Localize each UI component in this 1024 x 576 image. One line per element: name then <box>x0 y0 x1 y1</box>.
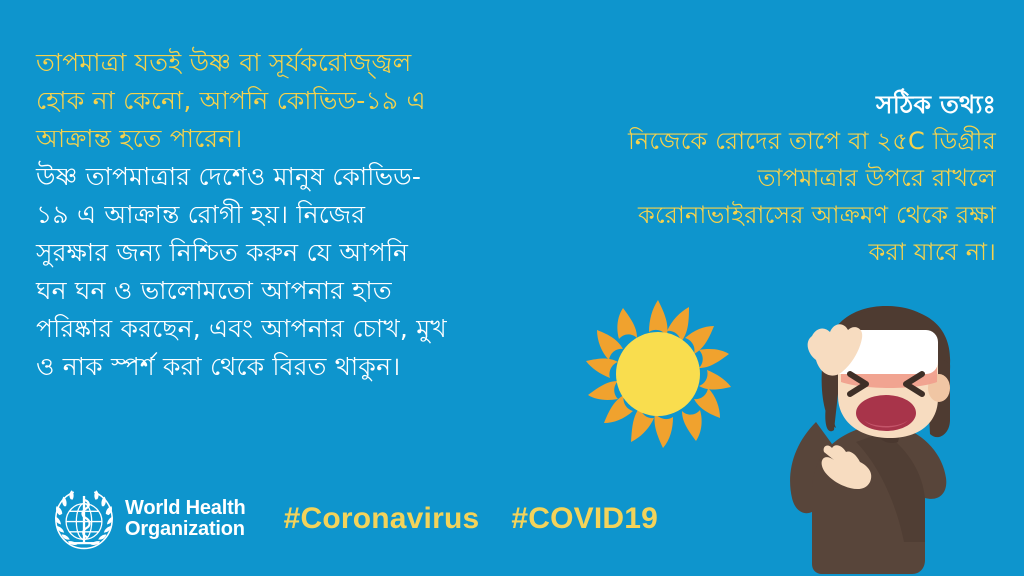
hashtag-covid19[interactable]: #COVID19 <box>511 502 658 536</box>
who-wordmark: World Health Organization <box>125 498 246 540</box>
fact-line-4: করা যাবে না। <box>526 234 996 271</box>
who-logo-lockup: World Health Organization <box>52 487 246 551</box>
fact-line-1: নিজেকে রোদের তাপে বা ২৫C ডিগ্রীর <box>526 123 996 160</box>
myth-text-block: তাপমাত্রা যতই উষ্ণ বা সূর্যকরোজ্জ্বল হোক… <box>36 44 536 386</box>
fact-line-2: তাপমাত্রার উপরে রাখলে <box>526 160 996 197</box>
fact-heading: সঠিক তথ্যঃ <box>526 86 996 123</box>
myth-line-5: ১৯ এ আক্রান্ত রোগী হয়। নিজের <box>36 196 536 234</box>
footer-bar: World Health Organization #Coronavirus #… <box>52 484 658 554</box>
who-emblem-icon <box>52 487 116 551</box>
who-name-line-2: Organization <box>125 519 246 540</box>
myth-line-2: হোক না কেনো, আপনি কোভিড-১৯ এ <box>36 82 536 120</box>
hashtag-coronavirus[interactable]: #Coronavirus <box>284 502 480 536</box>
myth-line-9: ও নাক স্পর্শ করা থেকে বিরত থাকুন। <box>36 348 536 386</box>
sick-person-icon <box>786 302 996 576</box>
myth-line-3: আক্রান্ত হতে পারেন। <box>36 120 536 158</box>
sun-core <box>616 332 700 416</box>
sun-icon <box>583 298 733 450</box>
myth-line-7: ঘন ঘন ও ভালোমতো আপনার হাত <box>36 272 536 310</box>
person-mouth <box>856 395 916 431</box>
fact-text-block: সঠিক তথ্যঃ নিজেকে রোদের তাপে বা ২৫C ডিগ্… <box>526 86 996 271</box>
myth-line-1: তাপমাত্রা যতই উষ্ণ বা সূর্যকরোজ্জ্বল <box>36 44 536 82</box>
fact-line-3: করোনাভাইরাসের আক্রমণ থেকে রক্ষা <box>526 197 996 234</box>
who-name-line-1: World Health <box>125 498 246 519</box>
myth-line-4: উষ্ণ তাপমাত্রার দেশেও মানুষ কোভিড- <box>36 158 536 196</box>
infographic-canvas: তাপমাত্রা যতই উষ্ণ বা সূর্যকরোজ্জ্বল হোক… <box>0 0 1024 576</box>
hashtag-group: #Coronavirus #COVID19 <box>284 502 658 536</box>
myth-line-6: সুরক্ষার জন্য নিশ্চিত করুন যে আপনি <box>36 234 536 272</box>
myth-line-8: পরিষ্কার করছেন, এবং আপনার চোখ, মুখ <box>36 310 536 348</box>
